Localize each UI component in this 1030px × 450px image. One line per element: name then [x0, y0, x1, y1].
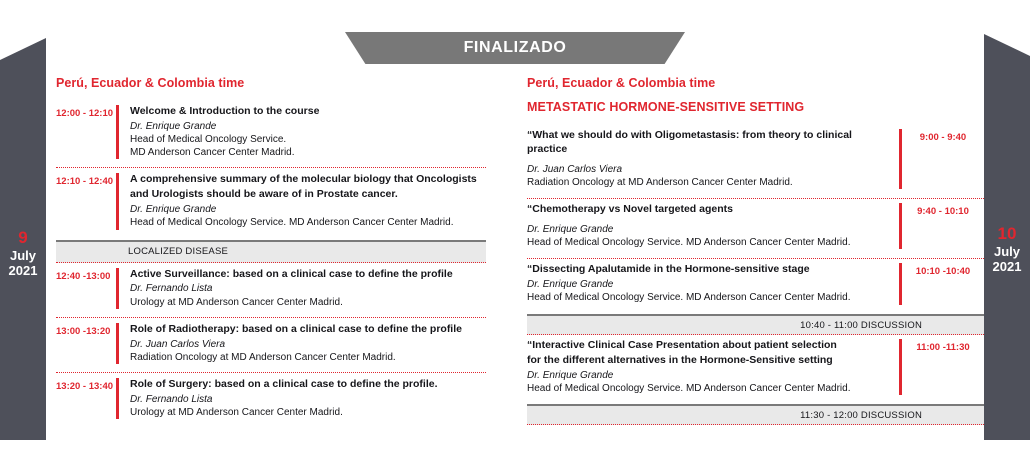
date-day-number: 10 — [984, 224, 1030, 244]
agenda-row-speaker: Dr. Enrique Grande — [527, 223, 890, 236]
discussion-band: 11:30 - 12:00 DISCUSSION — [527, 404, 984, 425]
section-title-metastatic: METASTATIC HORMONE-SENSITIVE SETTING — [527, 100, 984, 114]
agenda-row-body: “Interactive Clinical Case Presentation … — [527, 339, 902, 395]
agenda-row-time: 12:00 - 12:10 — [56, 105, 116, 119]
date-month-label: July — [0, 248, 46, 263]
timezone-header: Perú, Ecuador & Colombia time — [527, 76, 984, 90]
agenda-row-speaker: Dr. Enrique Grande — [527, 369, 890, 382]
agenda-row-speaker: Dr. Enrique Grande — [527, 278, 890, 291]
agenda-row-speaker: Dr. Fernando Lista — [130, 282, 486, 295]
agenda-row-title: “Chemotherapy vs Novel targeted agents — [527, 203, 890, 217]
agenda-row[interactable]: “Chemotherapy vs Novel targeted agents D… — [527, 198, 984, 258]
agenda-row[interactable]: 13:00 -13:20 Role of Radiotherapy: based… — [56, 317, 486, 372]
status-banner: FINALIZADO — [345, 32, 685, 64]
agenda-row-body: Welcome & Introduction to the course Dr.… — [116, 105, 486, 159]
agenda-row-time: 12:40 -13:00 — [56, 268, 116, 282]
agenda-row-speaker: Dr. Enrique Grande — [130, 203, 486, 216]
section-band-localized-disease: LOCALIZED DISEASE — [56, 240, 486, 263]
agenda-row-time: 12:10 - 12:40 — [56, 173, 116, 187]
date-day-number: 9 — [0, 228, 46, 248]
date-month-label: July — [984, 244, 1030, 259]
agenda-row[interactable]: 12:00 - 12:10 Welcome & Introduction to … — [56, 100, 486, 167]
agenda-column-day-9: Perú, Ecuador & Colombia time 12:00 - 12… — [56, 76, 486, 427]
agenda-row-time: 9:00 - 9:40 — [902, 129, 984, 143]
timezone-header: Perú, Ecuador & Colombia time — [56, 76, 486, 90]
agenda-row-time: 13:00 -13:20 — [56, 323, 116, 337]
agenda-row-title: “Interactive Clinical Case Presentation … — [527, 339, 890, 353]
agenda-row[interactable]: “What we should do with Oligometastasis:… — [527, 125, 984, 198]
agenda-row-speaker: Dr. Enrique Grande — [130, 120, 486, 133]
agenda-row-title: A comprehensive summary of the molecular… — [130, 173, 486, 187]
agenda-row-speaker: Dr. Juan Carlos Viera — [130, 338, 486, 351]
agenda-row-body: “Chemotherapy vs Novel targeted agents D… — [527, 203, 902, 249]
agenda-row-time: 11:00 -11:30 — [902, 339, 984, 353]
agenda-row-affiliation: Urology at MD Anderson Cancer Center Mad… — [130, 406, 486, 419]
agenda-row-time: 10:10 -10:40 — [902, 263, 984, 277]
agenda-row-title: for the different alternatives in the Ho… — [527, 354, 890, 368]
agenda-row-body: “What we should do with Oligometastasis:… — [527, 129, 902, 189]
date-tab-right-inner: 10 July 2021 — [984, 224, 1030, 275]
agenda-row-body: Role of Radiotherapy: based on a clinica… — [116, 323, 486, 364]
agenda-list-left-localized: 12:40 -13:00 Active Surveillance: based … — [56, 263, 486, 428]
agenda-row-affiliation: Head of Medical Oncology Service. MD And… — [527, 236, 890, 249]
agenda-row-title: Role of Radiotherapy: based on a clinica… — [130, 323, 486, 337]
date-tab-day-9: 9 July 2021 — [0, 38, 46, 440]
agenda-list-left: 12:00 - 12:10 Welcome & Introduction to … — [56, 100, 486, 238]
agenda-row-title: “Dissecting Apalutamide in the Hormone-s… — [527, 263, 890, 277]
agenda-row-title: Active Surveillance: based on a clinical… — [130, 268, 486, 282]
section-band-label: LOCALIZED DISEASE — [56, 246, 228, 257]
agenda-row-body: Role of Surgery: based on a clinical cas… — [116, 378, 486, 419]
agenda-column-day-10: Perú, Ecuador & Colombia time METASTATIC… — [527, 76, 984, 425]
agenda-row-body: Active Surveillance: based on a clinical… — [116, 268, 486, 309]
discussion-band-label: 10:40 - 11:00 DISCUSSION — [800, 320, 922, 331]
agenda-row-speaker: Dr. Fernando Lista — [130, 393, 486, 406]
agenda-row-title: Role of Surgery: based on a clinical cas… — [130, 378, 486, 392]
date-tab-day-10: 10 July 2021 — [984, 34, 1030, 440]
date-year-label: 2021 — [984, 259, 1030, 274]
agenda-row-title: and Urologists should be aware of in Pro… — [130, 188, 486, 202]
agenda-row-affiliation: Head of Medical Oncology Service. MD And… — [130, 216, 486, 229]
status-banner-label: FINALIZADO — [464, 39, 567, 57]
agenda-row[interactable]: “Interactive Clinical Case Presentation … — [527, 335, 984, 404]
agenda-list-right: “What we should do with Oligometastasis:… — [527, 125, 984, 314]
agenda-row-title: “What we should do with Oligometastasis:… — [527, 129, 890, 157]
agenda-row-time: 13:20 - 13:40 — [56, 378, 116, 392]
discussion-band: 10:40 - 11:00 DISCUSSION — [527, 314, 984, 335]
date-year-label: 2021 — [0, 263, 46, 278]
discussion-band-label: 11:30 - 12:00 DISCUSSION — [800, 410, 922, 421]
agenda-list-right-2: “Interactive Clinical Case Presentation … — [527, 335, 984, 404]
agenda-row[interactable]: “Dissecting Apalutamide in the Hormone-s… — [527, 258, 984, 314]
agenda-row-body: A comprehensive summary of the molecular… — [116, 173, 486, 229]
agenda-row-affiliation: Head of Medical Oncology Service. MD And… — [527, 382, 890, 395]
agenda-row[interactable]: 12:40 -13:00 Active Surveillance: based … — [56, 263, 486, 317]
date-tab-left-inner: 9 July 2021 — [0, 228, 46, 279]
agenda-row[interactable]: 13:20 - 13:40 Role of Surgery: based on … — [56, 372, 486, 427]
agenda-row-speaker: Dr. Juan Carlos Viera — [527, 163, 890, 176]
agenda-row-affiliation: MD Anderson Cancer Center Madrid. — [130, 146, 486, 159]
agenda-row-affiliation: Urology at MD Anderson Cancer Center Mad… — [130, 296, 486, 309]
agenda-row-affiliation: Head of Medical Oncology Service. MD And… — [527, 291, 890, 304]
agenda-row-affiliation: Head of Medical Oncology Service. — [130, 133, 486, 146]
agenda-row[interactable]: 12:10 - 12:40 A comprehensive summary of… — [56, 167, 486, 237]
agenda-page: FINALIZADO 9 July 2021 10 July 2021 Perú… — [0, 0, 1030, 450]
agenda-row-affiliation: Radiation Oncology at MD Anderson Cancer… — [130, 351, 486, 364]
agenda-row-body: “Dissecting Apalutamide in the Hormone-s… — [527, 263, 902, 305]
agenda-row-title: Welcome & Introduction to the course — [130, 105, 486, 119]
agenda-row-time: 9:40 - 10:10 — [902, 203, 984, 217]
agenda-row-affiliation: Radiation Oncology at MD Anderson Cancer… — [527, 176, 890, 189]
